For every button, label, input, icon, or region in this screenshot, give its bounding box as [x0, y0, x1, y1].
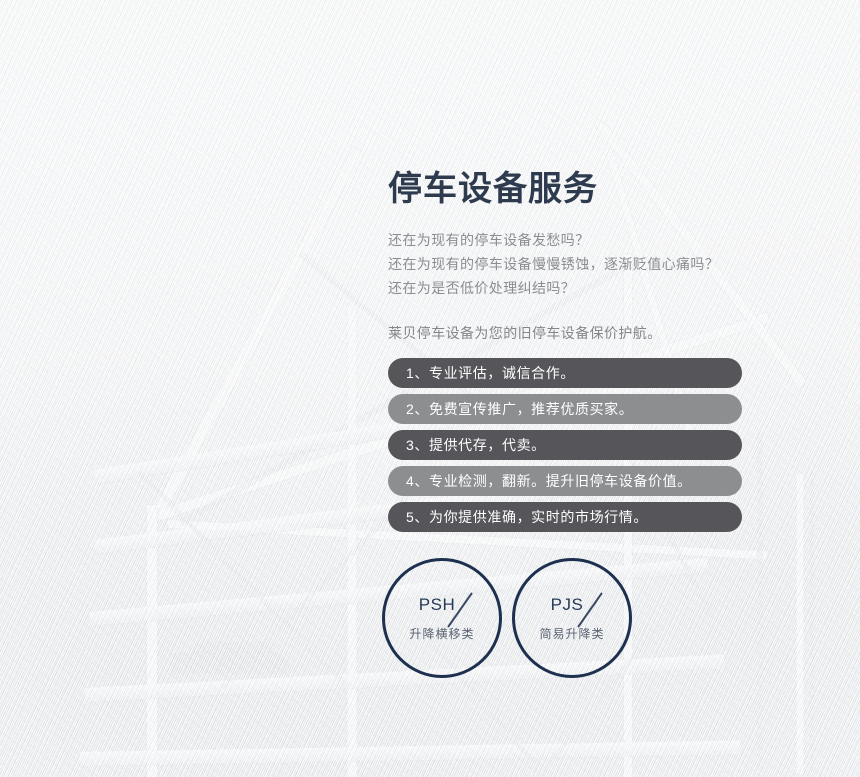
service-item-1[interactable]: 1、专业评估，诚信合作。 — [388, 358, 742, 388]
tagline: 莱贝停车设备为您的旧停车设备保价护航。 — [388, 322, 788, 344]
service-item-5[interactable]: 5、为你提供准确，实时的市场行情。 — [388, 502, 742, 532]
promo-banner: 停车设备服务 还在为现有的停车设备发愁吗？ 还在为现有的停车设备慢慢锈蚀，逐渐贬… — [0, 0, 860, 777]
question-line: 还在为现有的停车设备慢慢锈蚀，逐渐贬值心痛吗？ — [388, 252, 788, 276]
structure-mast — [797, 474, 804, 774]
category-badge-label: 升降横移类 — [409, 625, 474, 642]
question-list: 还在为现有的停车设备发愁吗？ 还在为现有的停车设备慢慢锈蚀，逐渐贬值心痛吗？ 还… — [388, 228, 788, 300]
service-item-label: 2、免费宣传推广，推荐优质买家。 — [406, 399, 633, 419]
structure-mast — [810, 472, 814, 772]
question-line: 还在为是否低价处理纠结吗？ — [388, 276, 788, 300]
category-badge-label: 简易升降类 — [539, 625, 604, 642]
structure-column — [348, 305, 357, 777]
service-item-2[interactable]: 2、免费宣传推广，推荐优质买家。 — [388, 394, 742, 424]
service-item-3[interactable]: 3、提供代存，代卖。 — [388, 430, 742, 460]
question-line: 还在为现有的停车设备发愁吗？ — [388, 228, 788, 252]
parked-car — [170, 652, 290, 674]
parking-platform — [80, 740, 740, 766]
service-item-label: 4、专业检测，翻新。提升旧停车设备价值。 — [406, 471, 692, 491]
service-item-label: 3、提供代存，代卖。 — [406, 435, 546, 455]
category-badge-pjs[interactable]: PJS 简易升降类 — [512, 558, 632, 678]
category-badge-psh[interactable]: PSH 升降横移类 — [382, 558, 502, 678]
content-column: 停车设备服务 还在为现有的停车设备发愁吗？ 还在为现有的停车设备慢慢锈蚀，逐渐贬… — [388, 168, 788, 532]
service-list: 1、专业评估，诚信合作。 2、免费宣传推广，推荐优质买家。 3、提供代存，代卖。… — [388, 358, 742, 532]
category-badge-code: PJS — [551, 595, 584, 615]
service-item-4[interactable]: 4、专业检测，翻新。提升旧停车设备价值。 — [388, 466, 742, 496]
category-badge-group: PSH 升降横移类 PJS 简易升降类 — [382, 558, 632, 678]
page-title: 停车设备服务 — [388, 168, 788, 210]
category-badge-code: PSH — [419, 595, 455, 615]
service-item-label: 5、为你提供准确，实时的市场行情。 — [406, 507, 648, 527]
service-item-label: 1、专业评估，诚信合作。 — [406, 363, 575, 383]
